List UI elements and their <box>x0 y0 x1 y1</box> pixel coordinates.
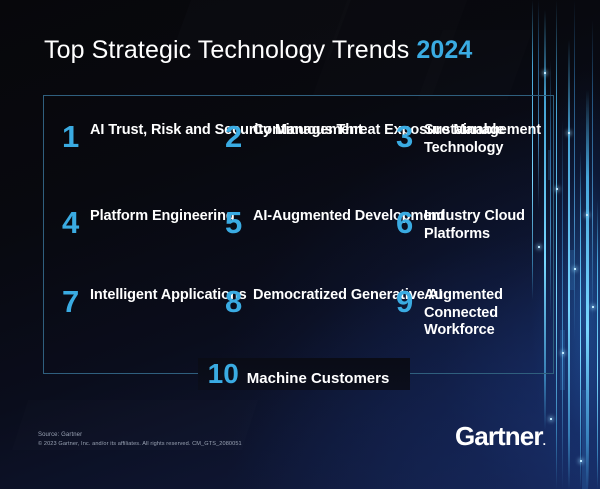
trend-label: Sustainable Technology <box>424 122 555 157</box>
trend-number: 10 <box>208 360 239 388</box>
gartner-logo: Gartner. <box>455 421 545 452</box>
stream-dot <box>580 460 582 462</box>
stream-block <box>582 390 588 489</box>
page-title-year: 2024 <box>416 36 472 64</box>
trend-number: 7 <box>62 287 90 317</box>
stream-dot <box>568 132 570 134</box>
stream-line <box>562 120 563 489</box>
stream-block <box>570 250 574 290</box>
stream-line <box>580 150 581 489</box>
source-attribution: Source: Gartner © 2023 Gartner, Inc. and… <box>38 431 242 449</box>
trend-item-7: 7 Intelligent Applications <box>62 287 247 317</box>
page-title: Top Strategic Technology Trends 2024 <box>44 36 472 65</box>
trend-label: Platform Engineering <box>90 208 235 226</box>
trend-number: 3 <box>396 122 424 152</box>
gartner-logo-text: Gartner <box>455 421 543 451</box>
stream-line <box>568 40 570 489</box>
trend-number: 8 <box>225 287 253 317</box>
copyright-line: © 2023 Gartner, Inc. and/or its affiliat… <box>38 440 242 449</box>
stream-line <box>586 90 589 489</box>
stream-dot <box>592 306 594 308</box>
stream-line <box>592 20 593 320</box>
stream-dot <box>556 188 558 190</box>
trend-number: 5 <box>225 208 253 238</box>
stream-dot <box>586 214 588 216</box>
trend-label: Augmented Connected Workforce <box>424 287 555 340</box>
trend-label: Intelligent Applications <box>90 287 247 305</box>
stream-dot <box>562 352 564 354</box>
page-title-main: Top Strategic Technology Trends <box>44 36 409 64</box>
stream-block <box>560 330 565 390</box>
stream-dot <box>574 268 576 270</box>
gartner-logo-mark: . <box>543 434 545 448</box>
trend-ten-content: 10 Machine Customers <box>194 360 404 388</box>
stream-dot <box>544 72 546 74</box>
trends-panel: 1 AI Trust, Risk and Security Management… <box>43 95 554 374</box>
trend-number: 2 <box>225 122 253 152</box>
trend-item-10: 10 Machine Customers <box>43 358 554 390</box>
stream-line <box>597 200 598 489</box>
trend-label: Machine Customers <box>247 370 390 388</box>
trend-number: 6 <box>396 208 424 238</box>
trend-item-3: 3 Sustainable Technology <box>396 122 555 157</box>
infographic-poster: Top Strategic Technology Trends 2024 1 A… <box>0 0 600 489</box>
stream-dot <box>550 418 552 420</box>
trend-item-9: 9 Augmented Connected Workforce <box>396 287 555 340</box>
trend-item-6: 6 Industry Cloud Platforms <box>396 208 555 243</box>
trends-grid: 1 AI Trust, Risk and Security Management… <box>44 96 555 375</box>
source-line: Source: Gartner <box>38 431 242 440</box>
trend-number: 1 <box>62 122 90 152</box>
trend-label: Industry Cloud Platforms <box>424 208 555 243</box>
trend-number: 9 <box>396 287 424 317</box>
trend-item-4: 4 Platform Engineering <box>62 208 235 238</box>
stream-line <box>574 0 575 340</box>
trend-number: 4 <box>62 208 90 238</box>
stream-line <box>556 0 557 489</box>
